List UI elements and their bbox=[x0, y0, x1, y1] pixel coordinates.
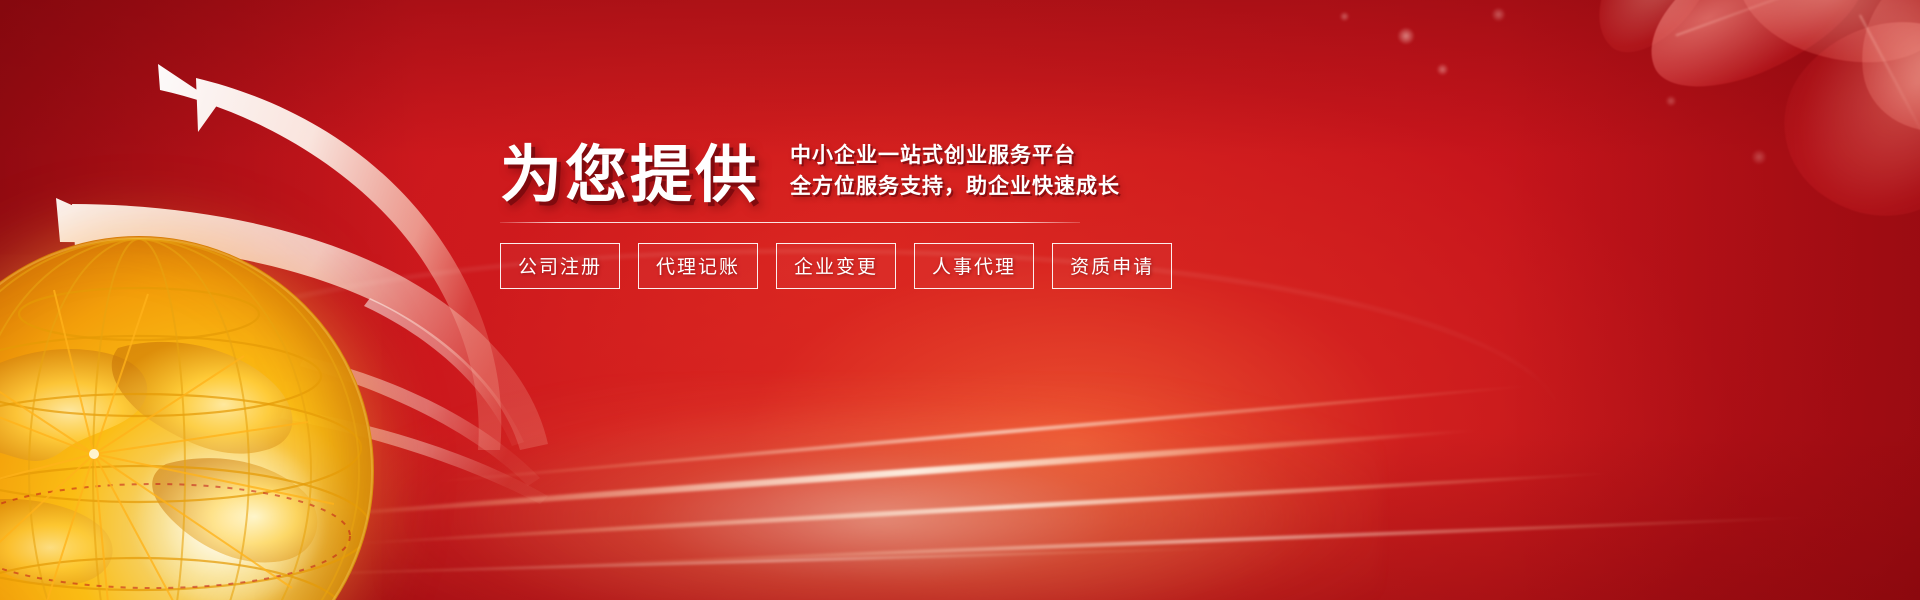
subtitle-line-2: 全方位服务支持，助企业快速成长 bbox=[790, 171, 1120, 202]
service-tag-hr-agency[interactable]: 人事代理 bbox=[914, 243, 1034, 289]
subtitle-line-1: 中小企业一站式创业服务平台 bbox=[790, 140, 1120, 171]
banner-content: 为您提供 中小企业一站式创业服务平台 全方位服务支持，助企业快速成长 公司注册 … bbox=[500, 140, 1100, 289]
divider bbox=[500, 222, 1080, 223]
headline-row: 为您提供 中小企业一站式创业服务平台 全方位服务支持，助企业快速成长 bbox=[500, 140, 1100, 208]
promo-banner: 为您提供 中小企业一站式创业服务平台 全方位服务支持，助企业快速成长 公司注册 … bbox=[0, 0, 1920, 600]
service-tag-row: 公司注册 代理记账 企业变更 人事代理 资质申请 bbox=[500, 243, 1100, 289]
globe-grid bbox=[0, 236, 374, 600]
globe-wireframe-graphic bbox=[0, 236, 424, 600]
subtitle-block: 中小企业一站式创业服务平台 全方位服务支持，助企业快速成长 bbox=[790, 140, 1120, 208]
service-tag-bookkeeping[interactable]: 代理记账 bbox=[638, 243, 758, 289]
service-tag-company-registration[interactable]: 公司注册 bbox=[500, 243, 620, 289]
globe-hub-node bbox=[89, 449, 99, 459]
service-tag-business-change[interactable]: 企业变更 bbox=[776, 243, 896, 289]
service-tag-qualification-application[interactable]: 资质申请 bbox=[1052, 243, 1172, 289]
page-title: 为您提供 bbox=[500, 143, 760, 208]
